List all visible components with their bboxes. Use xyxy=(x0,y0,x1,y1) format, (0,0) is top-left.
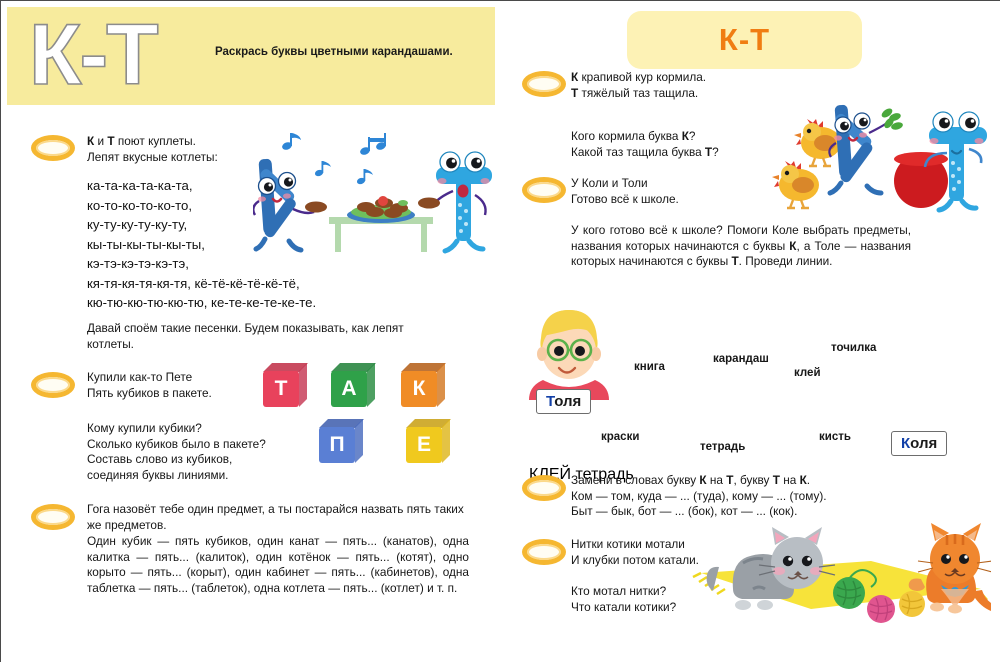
nettle-rhyme: К крапивой кур кормила. Т тяжёлый таз та… xyxy=(571,70,801,101)
song-outro: Давай споём такие песенки. Будем показыв… xyxy=(87,321,452,352)
object-label-kniga: книга xyxy=(634,361,665,373)
school-rhyme-line2: Готово всё к школе. xyxy=(571,192,801,208)
gaga-body: Один кубик — пять кубиков, один канат — … xyxy=(87,534,469,596)
cubes-rhyme: Купили как-то Пете Пять кубиков в пакете… xyxy=(87,370,277,401)
cubes-question: Кому купили кубики? xyxy=(87,421,287,437)
cubes-questions: Кому купили кубики? Сколько кубиков было… xyxy=(87,421,287,483)
gaga-intro: Гога назовёт тебе один предмет, а ты пос… xyxy=(87,502,469,533)
name-box-tolya-rest: оля xyxy=(554,393,581,410)
cube-side xyxy=(442,419,450,463)
name-box-kolya[interactable]: Коля xyxy=(891,431,947,456)
cubes-question: Сколько кубиков было в пакете? xyxy=(87,437,287,453)
right-page: К-Т К крапивой кур кормила. Т тяжёлый та… xyxy=(501,1,1000,663)
name-box-tolya[interactable]: Толя xyxy=(536,389,591,414)
cube-face: Т xyxy=(263,371,299,407)
cubes-rhyme-line1: Купили как-то Пете xyxy=(87,370,277,386)
school-rhyme-line1: У Коли и Толи xyxy=(571,176,801,192)
banner-hint: Раскрась буквы цветными карандашами. xyxy=(215,45,455,60)
syllable-line: кю-тю-кю-тю-кю-тю, ке-те-ке-те-ке-те. xyxy=(87,293,467,313)
name-box-kolya-rest: оля xyxy=(910,435,937,452)
cube-side xyxy=(367,363,375,407)
school-rhyme: У Коли и Толи Готово всё к школе. xyxy=(571,176,801,207)
bullet-icon xyxy=(522,475,566,501)
object-label-karandash: карандаш xyxy=(713,353,769,365)
name-box-kolya-initial: К xyxy=(901,435,910,452)
cube-letter[interactable]: Е xyxy=(406,419,450,463)
left-banner: К-Т Раскрась буквы цветными карандашами. xyxy=(7,7,495,105)
right-tab-title: К-Т xyxy=(719,22,770,58)
book-spread: К-Т Раскрась буквы цветными карандашами.… xyxy=(0,0,1000,662)
object-label-tochilka: точилка xyxy=(831,342,876,354)
cubes-question: Составь слово из кубиков, xyxy=(87,452,287,468)
bullet-icon xyxy=(522,539,566,565)
cube-letter[interactable]: А xyxy=(331,363,375,407)
cubes-question: соединяя буквы линиями. xyxy=(87,468,287,484)
cube-face: Е xyxy=(406,427,442,463)
right-page-tab: К-Т xyxy=(627,11,862,69)
banner-letters: К-Т xyxy=(29,11,157,99)
cube-letter[interactable]: П xyxy=(319,419,363,463)
bullet-icon xyxy=(31,372,75,398)
school-objects-scene: КЛЕЙ xyxy=(529,301,984,484)
bullet-icon xyxy=(31,504,75,530)
cube-side xyxy=(437,363,445,407)
school-task: У кого готово всё к школе? Помоги Коле в… xyxy=(571,223,911,270)
cube-face: А xyxy=(331,371,367,407)
bullet-icon xyxy=(31,135,75,161)
name-box-tolya-initial: Т xyxy=(546,393,554,410)
object-label-kraski: краски xyxy=(601,431,639,443)
cats-yarn-illustration xyxy=(691,511,991,646)
syllable-line: кя-тя-кя-тя-кя-тя, кё-тё-кё-тё-кё-тё, xyxy=(87,274,467,294)
object-label-kley: клей xyxy=(794,367,821,379)
cube-face: К xyxy=(401,371,437,407)
cube-letter[interactable]: Т xyxy=(263,363,307,407)
cubes-rhyme-line2: Пять кубиков в пакете. xyxy=(87,386,277,402)
object-label-kist: кисть xyxy=(819,431,851,443)
cube-face: П xyxy=(319,427,355,463)
left-page: К-Т Раскрась буквы цветными карандашами.… xyxy=(1,1,501,663)
letters-chickens-illustration xyxy=(769,89,1000,222)
swap-line2: Ком — том, куда — ... (туда), кому — ...… xyxy=(571,489,911,505)
cube-letter[interactable]: К xyxy=(401,363,445,407)
bullet-icon xyxy=(522,71,566,97)
letters-cooking-illustration xyxy=(253,129,493,264)
bullet-icon xyxy=(522,177,566,203)
object-label-tetrad: тетрадь xyxy=(700,441,745,453)
cube-side xyxy=(299,363,307,407)
cube-side xyxy=(355,419,363,463)
